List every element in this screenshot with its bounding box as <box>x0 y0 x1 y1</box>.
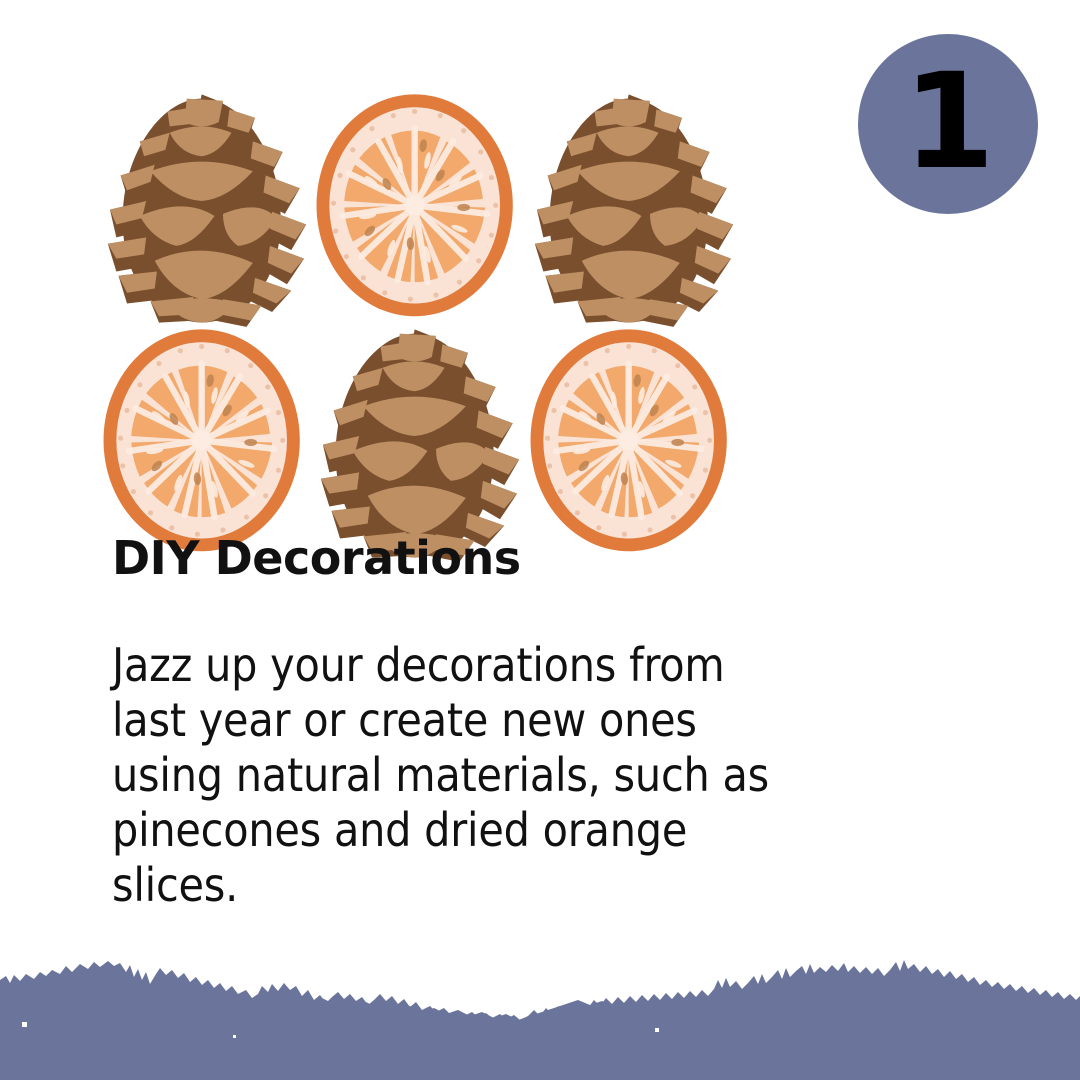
card-title: DIY Decorations <box>112 533 521 584</box>
orange-slice-icon <box>95 323 308 558</box>
torn-paper-edge <box>0 950 1080 1080</box>
body-line: pinecones and dried orange <box>112 803 962 858</box>
step-number-text: 1 <box>903 56 993 188</box>
card-body-text: Jazz up your decorations from last year … <box>112 638 962 913</box>
step-number-badge: 1 <box>858 34 1038 214</box>
pinecone-icon <box>95 88 308 323</box>
body-line: Jazz up your decorations from <box>112 638 962 693</box>
body-line: using natural materials, such as <box>112 748 962 803</box>
pinecone-icon <box>522 88 735 323</box>
illustration-grid <box>95 88 735 513</box>
pinecone-illustration <box>308 323 521 558</box>
orange-slice-illustration <box>522 323 735 558</box>
orange-slice-icon <box>308 88 521 323</box>
torn-edge-shape <box>0 950 1080 1080</box>
pinecone-icon <box>308 323 521 558</box>
orange-slice-illustration <box>308 88 521 323</box>
orange-slice-icon <box>522 323 735 558</box>
recipe-tip-card: 1 <box>0 0 1080 1080</box>
body-line: slices. <box>112 858 962 913</box>
orange-slice-illustration <box>95 323 308 558</box>
pinecone-illustration <box>522 88 735 323</box>
body-line: last year or create new ones <box>112 693 962 748</box>
pinecone-illustration <box>95 88 308 323</box>
